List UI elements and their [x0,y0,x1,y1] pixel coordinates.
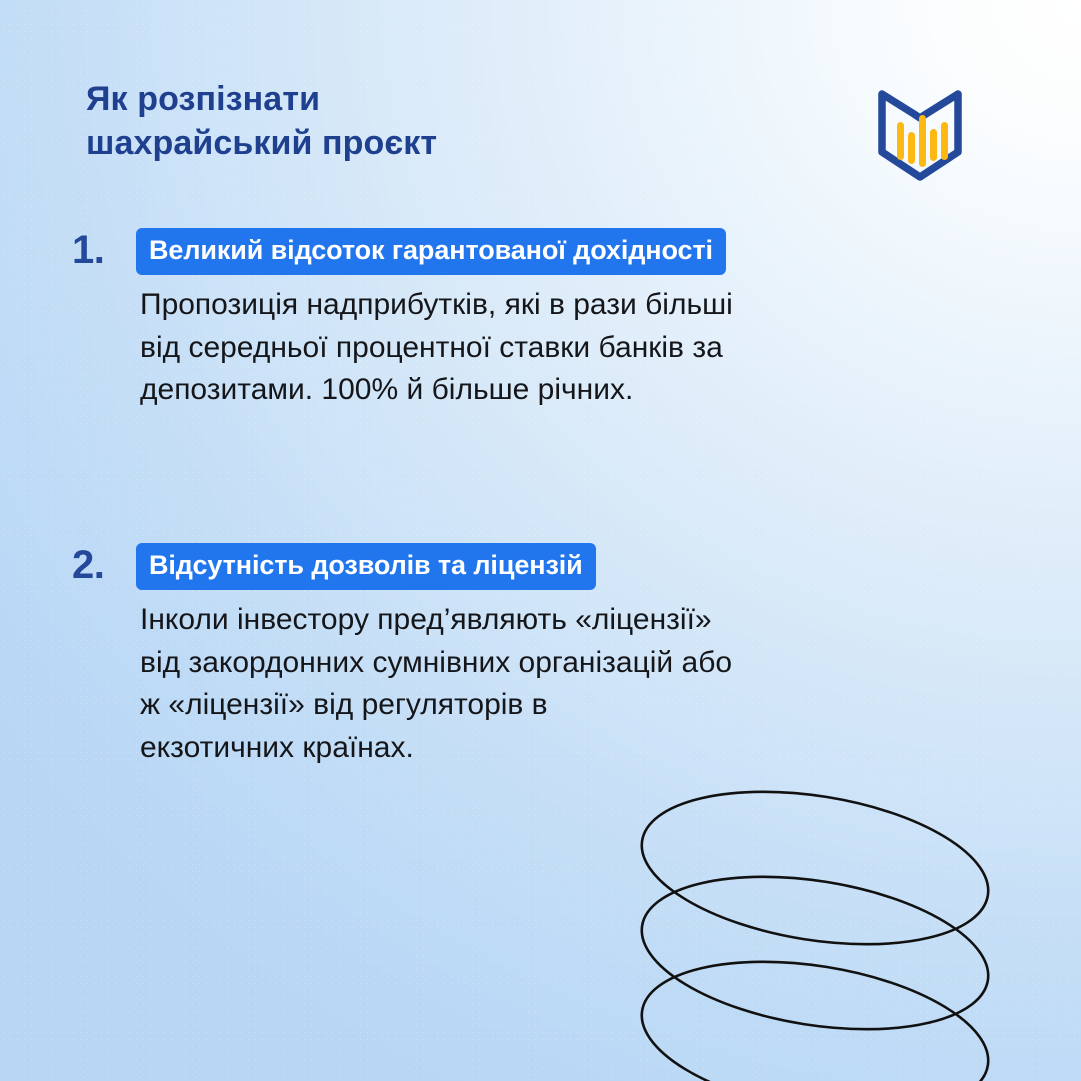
item-number: 2. [72,543,138,587]
infographic-poster: Як розпізнати шахрайський проєкт 1. Вели… [0,0,1081,1081]
item-content: Великий відсоток гарантованої дохідності… [136,228,1021,412]
item-heading-badge: Відсутність дозволів та ліцензій [136,543,596,590]
item-content: Відсутність дозволів та ліцензій Інколи … [136,543,1021,769]
list-item: 2. Відсутність дозволів та ліцензій Інко… [72,543,1021,769]
item-heading-badge: Великий відсоток гарантованої дохідності [136,228,726,275]
item-number: 1. [72,228,138,272]
item-description: Пропозиція надприбутків, які в рази біль… [136,284,970,412]
list-item: 1. Великий відсоток гарантованої дохідно… [72,228,1021,412]
item-description: Інколи інвестору пред’являють «ліцензії»… [136,599,970,769]
shield-bar-chart-logo-icon [868,78,972,182]
